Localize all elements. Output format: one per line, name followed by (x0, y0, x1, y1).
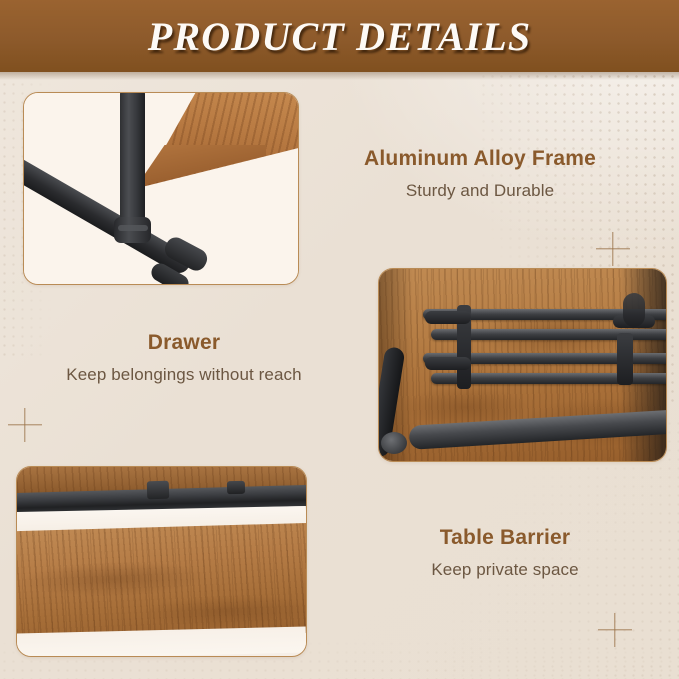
photo-aluminum-alloy-frame (24, 93, 298, 284)
photo-card-drawer (378, 268, 667, 462)
feature-heading: Table Barrier (345, 525, 665, 550)
feature-text-aluminum-alloy-frame: Aluminum Alloy Frame Sturdy and Durable (310, 146, 650, 202)
barrier-rail-clip (227, 481, 245, 494)
drawer-bracket-vertical (617, 333, 633, 385)
drawer-pivot-knob (381, 432, 407, 454)
table-leg-joint-ring (118, 225, 148, 231)
cross-decoration-icon (598, 613, 632, 647)
page-title: PRODUCT DETAILS (148, 13, 532, 60)
feature-heading: Drawer (14, 330, 354, 355)
feature-heading: Aluminum Alloy Frame (310, 146, 650, 171)
feature-subheading: Keep private space (345, 560, 665, 580)
feature-subheading: Keep belongings without reach (14, 365, 354, 385)
drawer-bracket-arm (425, 311, 471, 324)
barrier-rail-clip (147, 481, 169, 500)
feature-subheading: Sturdy and Durable (310, 181, 650, 201)
header-banner: PRODUCT DETAILS (0, 0, 679, 72)
banner-shadow (0, 72, 679, 80)
photo-drawer (379, 269, 666, 461)
barrier-wood-board (16, 523, 307, 642)
feature-text-table-barrier: Table Barrier Keep private space (345, 525, 665, 581)
feature-text-drawer: Drawer Keep belongings without reach (14, 330, 354, 386)
photo-card-table-barrier (16, 466, 307, 657)
drawer-bracket-arm (425, 357, 471, 370)
photo-table-barrier (17, 467, 306, 656)
cross-decoration-icon (596, 232, 630, 266)
photo-card-aluminum-alloy-frame (23, 92, 299, 285)
drawer-slot (623, 293, 645, 327)
product-details-infographic: PRODUCT DETAILS (0, 0, 679, 679)
cross-decoration-icon (8, 408, 42, 442)
